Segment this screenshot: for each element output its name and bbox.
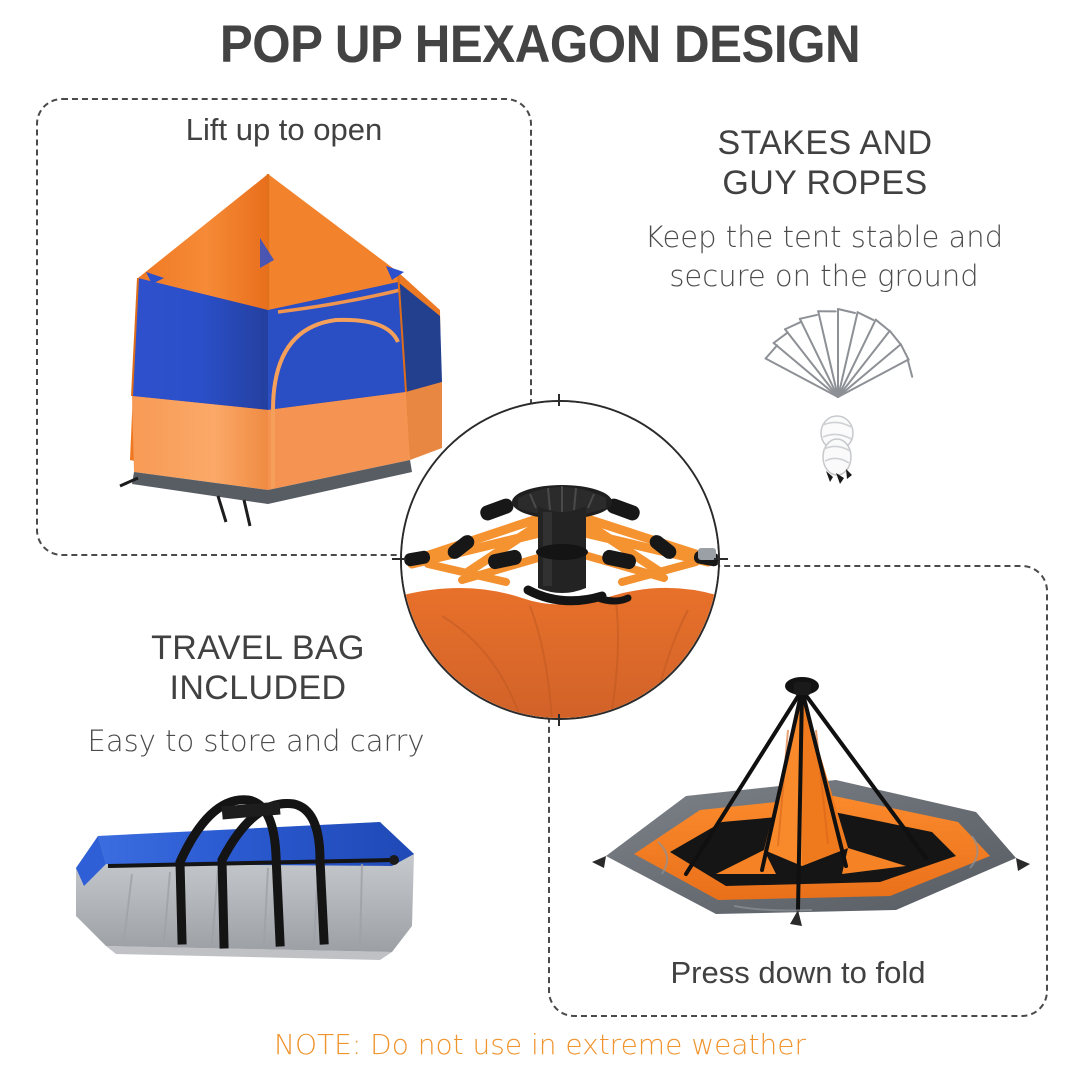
stakes-and-rope-photo [722, 305, 952, 505]
infographic-canvas: POP UP HEXAGON DESIGN [0, 0, 1080, 1080]
travel-bag-photo [62, 790, 462, 970]
collapsed-tent-photo [566, 660, 1036, 950]
hexagon-pop-up-tent-photo [68, 160, 468, 550]
heading-travel-bag-included: TRAVEL BAG INCLUDED [48, 628, 468, 708]
heading-line-1: TRAVEL BAG [48, 628, 468, 668]
subtitle-line-2: secure on the ground [578, 257, 1070, 296]
subtitle-stakes: Keep the tent stable and secure on the g… [578, 218, 1070, 296]
caption-lift-up-to-open: Lift up to open [36, 112, 532, 148]
heading-line-2: INCLUDED [48, 668, 468, 708]
footer-note: NOTE: Do not use in extreme weather [0, 1028, 1080, 1061]
caption-press-down-to-fold: Press down to fold [548, 955, 1048, 991]
crop-tick-left [392, 558, 406, 560]
crop-tick-bottom [558, 714, 560, 726]
subtitle-line-1: Keep the tent stable and [578, 218, 1070, 257]
central-hub-mechanism-photo [400, 400, 720, 720]
page-title: POP UP HEXAGON DESIGN [38, 14, 1042, 75]
heading-stakes-and-guy-ropes: STAKES AND GUY ROPES [590, 123, 1060, 203]
heading-line-1: STAKES AND [590, 123, 1060, 163]
heading-line-2: GUY ROPES [590, 163, 1060, 203]
crop-tick-right [714, 558, 728, 560]
subtitle-travel-bag: Easy to store and carry [36, 722, 476, 761]
crop-tick-top [558, 394, 560, 406]
